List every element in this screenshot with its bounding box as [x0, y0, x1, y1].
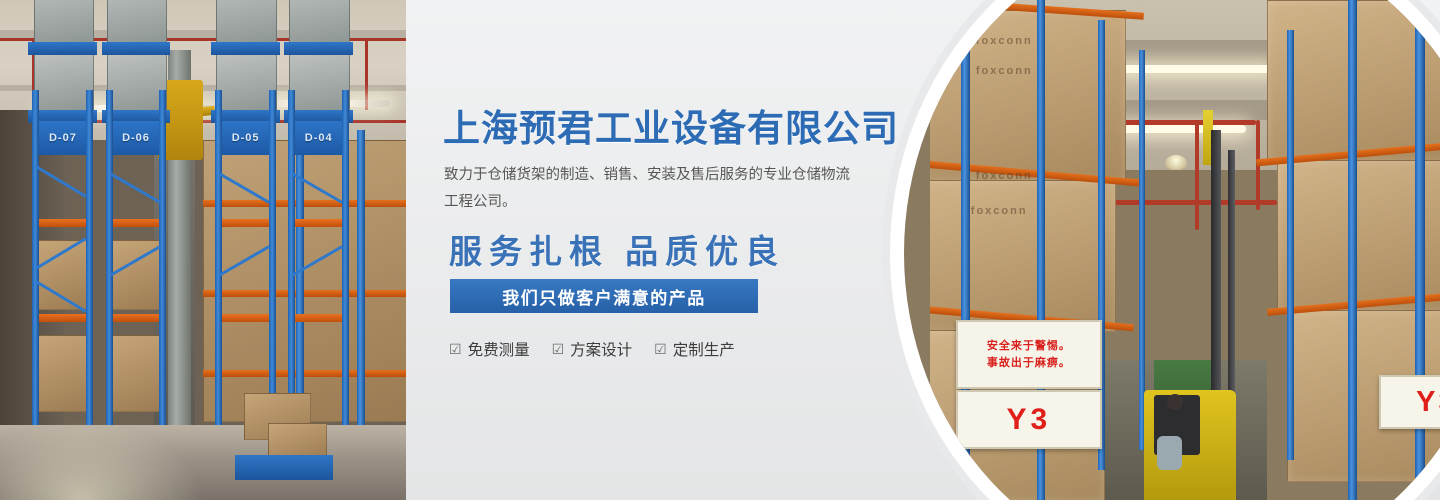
rack-bay: D-07 [32, 90, 93, 430]
sprinkler-drop [1195, 120, 1199, 230]
feature-label: 方案设计 [570, 338, 632, 360]
rack-label: D-06 [106, 121, 167, 155]
stacked-unit [289, 46, 349, 113]
carton-brand-text: foxconn [976, 65, 1033, 77]
promise-badge: 我们只做客户满意的产品 [450, 279, 758, 313]
stacked-unit [216, 0, 276, 44]
stacked-unit [34, 0, 94, 44]
rack-brace [109, 172, 161, 204]
rack-beam [106, 314, 167, 322]
pallet-load [109, 335, 165, 412]
rack-upright [159, 90, 166, 430]
carton-brand-text: foxconn [971, 205, 1028, 217]
company-subtitle: 致力于仓储货架的制造、销售、安装及售后服务的专业仓储物流工程公司。 [444, 162, 862, 216]
forklift-mast [1228, 150, 1235, 420]
rack-brace [292, 245, 344, 277]
safety-sign-line-2: 事故出于麻痹。 [987, 355, 1071, 372]
rack-label: D-07 [32, 121, 93, 155]
right-warehouse-photo: foxconn foxconn foxconn foxconn [930, 0, 1440, 500]
rack-upright [106, 90, 113, 430]
forklift-mast [1211, 130, 1221, 420]
checkbox-checked-icon: ☑ [552, 342, 565, 356]
carton-brand-text: foxconn [976, 170, 1033, 182]
rack-upright [32, 90, 39, 430]
rack-brace [292, 172, 344, 204]
company-title: 上海预君工业设备有限公司 [443, 98, 899, 152]
rack-brace [218, 172, 270, 204]
rack-beam [32, 314, 93, 322]
rack-upright [269, 90, 276, 430]
rack-upright [342, 90, 349, 430]
rack-label: D-04 [288, 121, 349, 155]
rack-upright [1287, 30, 1294, 460]
left-warehouse-photo: D-07 D-06 [0, 0, 406, 500]
rack-shelf [28, 42, 97, 55]
ceiling-light [1114, 125, 1247, 133]
pallet-load [36, 335, 92, 412]
rack-shelf [102, 42, 171, 55]
stacked-unit [107, 0, 167, 44]
rack-upright [357, 130, 365, 425]
rack-label: D-05 [215, 121, 276, 155]
stacked-unit [107, 46, 167, 113]
rack-upright [86, 90, 93, 430]
checkbox-checked-icon: ☑ [449, 342, 462, 356]
rack-bay: D-06 [106, 90, 167, 430]
blue-pallet [235, 455, 332, 480]
rack-upright [1348, 0, 1357, 500]
rack-shelf [211, 42, 280, 55]
ellipse-photo-mask: foxconn foxconn foxconn foxconn [904, 0, 1440, 500]
stacked-unit [34, 46, 94, 113]
banner-content: 上海预君工业设备有限公司 致力于仓储货架的制造、销售、安装及售后服务的专业仓储物… [443, 0, 913, 500]
safety-sign-line-1: 安全来于警惕。 [987, 338, 1071, 355]
feature-label: 免费测量 [468, 338, 530, 360]
rack-beam [288, 314, 349, 322]
carton-brand-text: foxconn [976, 35, 1033, 47]
safety-sign: 安全来于警惕。 事故出于麻痹。 [956, 320, 1103, 389]
rack-shelf [284, 42, 353, 55]
rack-brace [218, 245, 270, 277]
high-bay-light [1165, 155, 1187, 170]
rack-upright [1139, 50, 1145, 450]
feature-label: 定制生产 [673, 338, 735, 360]
stacked-unit [289, 0, 349, 44]
slogan: 服务扎根 品质优良 [449, 225, 785, 273]
right-photo-content: foxconn foxconn foxconn foxconn [930, 0, 1440, 500]
feature-item-custom-production: ☑ 定制生产 [654, 338, 735, 360]
rack-upright [215, 90, 222, 430]
feature-item-plan-design: ☑ 方案设计 [552, 338, 633, 360]
feature-list: ☑ 免费测量 ☑ 方案设计 ☑ 定制生产 [449, 338, 735, 360]
rack-beam [32, 219, 93, 227]
rack-beam [106, 219, 167, 227]
rack-beam [215, 219, 276, 227]
rack-bay: D-04 [288, 90, 349, 430]
stacked-unit [216, 46, 276, 113]
aisle-label-sign-right: Y3 [1379, 375, 1440, 429]
rack-bay: D-05 [215, 90, 276, 430]
checkbox-checked-icon: ☑ [654, 342, 667, 356]
feature-item-free-measure: ☑ 免费测量 [449, 338, 530, 360]
rack-beam [215, 314, 276, 322]
hero-banner: D-07 D-06 [0, 0, 1440, 500]
rack-brace [36, 165, 87, 197]
forklift-driver [1157, 436, 1182, 470]
rack-upright [288, 90, 295, 430]
rack-beam [288, 219, 349, 227]
floor-light-reflection [0, 420, 203, 500]
aisle-label-sign: Y3 [956, 390, 1103, 449]
